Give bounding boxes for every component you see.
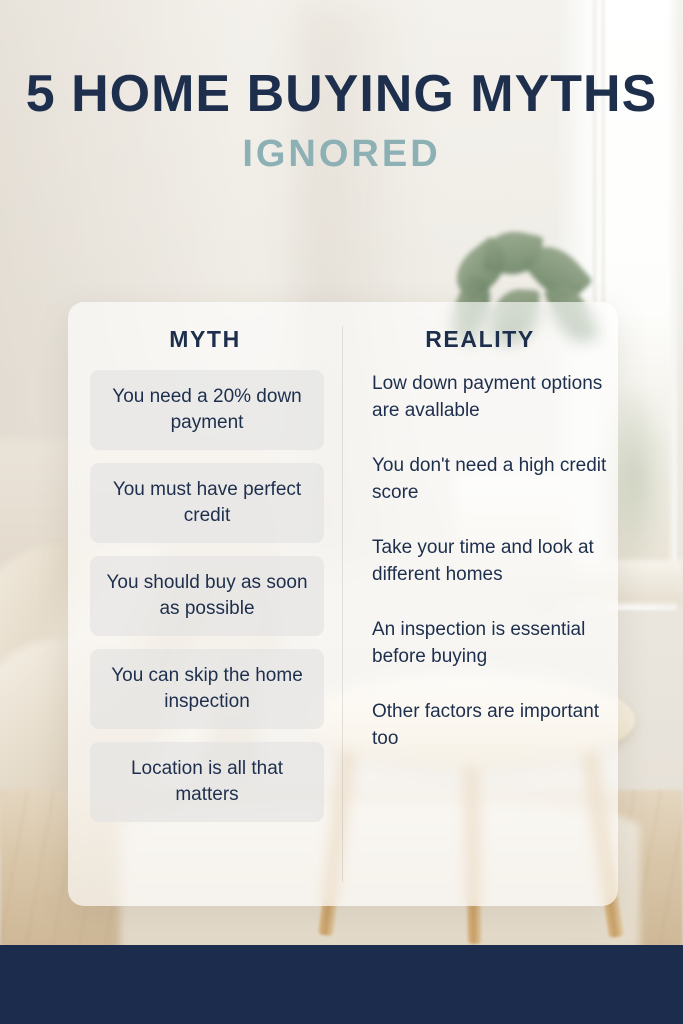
reality-item: You don't need a high credit score [372,452,610,506]
myth-pill: You need a 20% down payment [90,370,324,450]
reality-item: Take your time and look at different hom… [372,534,610,588]
reality-list: Low down payment options are avallable Y… [372,370,610,752]
reality-column-header: REALITY [342,326,618,353]
myth-list: You need a 20% down payment You must hav… [90,370,324,822]
comparison-panel: MYTH You need a 20% down payment You mus… [68,302,618,906]
heading-block: 5 HOME BUYING MYTHS IGNORED [0,64,683,176]
myth-column-header: MYTH [68,326,342,353]
reality-column: REALITY Low down payment options are ava… [342,302,618,906]
reality-item: An inspection is essential before buying [372,616,610,670]
page-subtitle: IGNORED [0,132,683,176]
bottom-bar [0,945,683,1024]
reality-item: Other factors are important too [372,698,610,752]
myth-pill: You can skip the home inspection [90,649,324,729]
reality-item: Low down payment options are avallable [372,370,610,424]
poster-canvas: 5 HOME BUYING MYTHS IGNORED MYTH You nee… [0,0,683,1024]
myth-column: MYTH You need a 20% down payment You mus… [68,302,342,906]
myth-pill: Location is all that matters [90,742,324,822]
myth-pill: You must have perfect credit [90,463,324,543]
page-title: 5 HOME BUYING MYTHS [0,64,683,124]
myth-pill: You should buy as soon as possible [90,556,324,636]
